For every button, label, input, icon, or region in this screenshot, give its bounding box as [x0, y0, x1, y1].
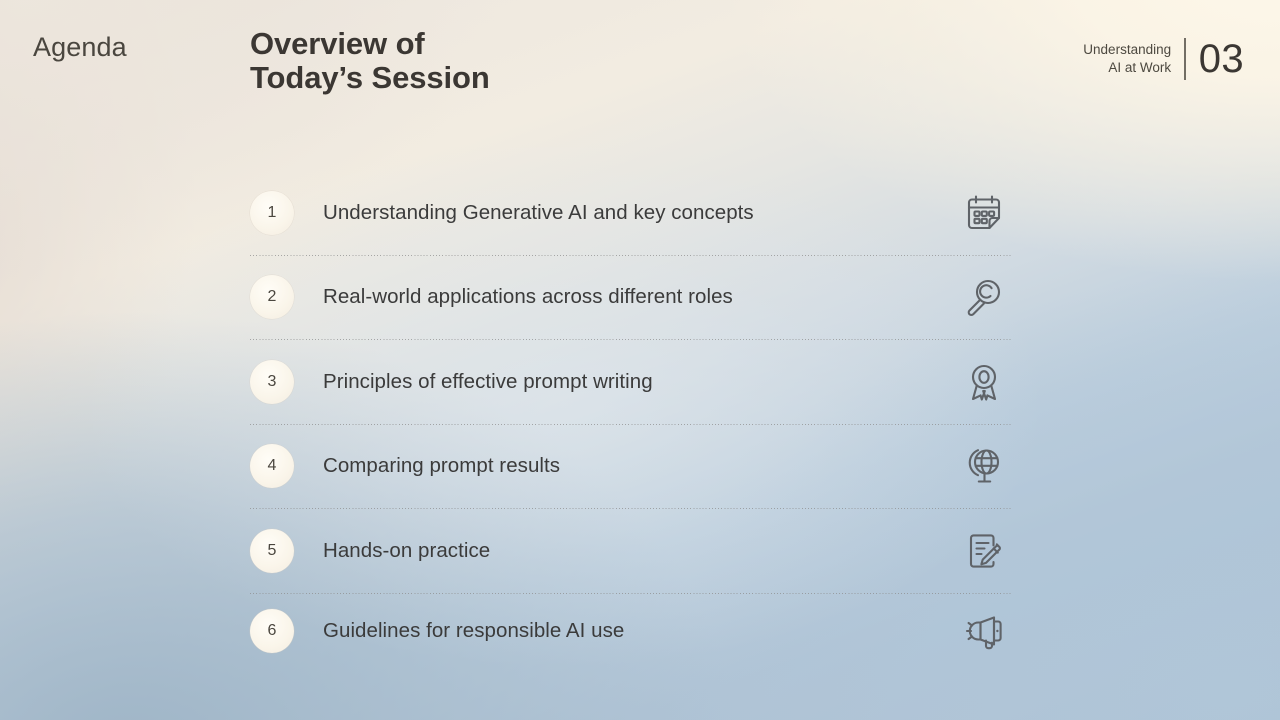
- agenda-item-label: Comparing prompt results: [323, 454, 560, 478]
- slide-number: 03: [1199, 39, 1244, 79]
- agenda-item-label: Real-world applications across different…: [323, 285, 733, 309]
- agenda-item-number: 4: [250, 444, 294, 488]
- brand-name: Understanding AI at Work: [1083, 41, 1171, 77]
- brand-name-line-2: AI at Work: [1083, 59, 1171, 77]
- agenda-item[interactable]: 4 Comparing prompt results: [250, 425, 1012, 509]
- page-title-line-2: Today’s Session: [250, 61, 490, 95]
- slide-kicker: Agenda: [33, 32, 127, 63]
- document-pencil-icon: [957, 524, 1011, 578]
- calendar-icon: [957, 186, 1011, 240]
- megaphone-icon: [957, 604, 1011, 658]
- magnifier-icon: [957, 270, 1011, 324]
- agenda-item[interactable]: 1 Understanding Generative AI and key co…: [250, 171, 1012, 255]
- agenda-item-label: Principles of effective prompt writing: [323, 370, 653, 394]
- agenda-item[interactable]: 5 Hands-on practice: [250, 509, 1012, 593]
- brand-name-line-1: Understanding: [1083, 41, 1171, 59]
- agenda-item[interactable]: 6 Guidelines for responsible AI use: [250, 594, 1012, 668]
- agenda-list: 1 Understanding Generative AI and key co…: [250, 171, 1012, 668]
- agenda-item-number: 2: [250, 275, 294, 319]
- agenda-item[interactable]: 2 Real-world applications across differe…: [250, 256, 1012, 340]
- slide-canvas: Agenda Overview of Today’s Session Under…: [0, 0, 1280, 720]
- agenda-item-label: Guidelines for responsible AI use: [323, 619, 624, 643]
- agenda-item-number: 3: [250, 360, 294, 404]
- globe-icon: [957, 439, 1011, 493]
- agenda-item-number: 5: [250, 529, 294, 573]
- agenda-item-label: Understanding Generative AI and key conc…: [323, 201, 754, 225]
- agenda-item-number: 6: [250, 609, 294, 653]
- agenda-item[interactable]: 3 Principles of effective prompt writing: [250, 340, 1012, 424]
- agenda-item-label: Hands-on practice: [323, 539, 490, 563]
- brand-block: Understanding AI at Work 03: [1083, 38, 1244, 80]
- agenda-item-number: 1: [250, 191, 294, 235]
- brand-divider: [1184, 38, 1186, 80]
- page-title: Overview of Today’s Session: [250, 27, 490, 96]
- page-title-line-1: Overview of: [250, 27, 490, 61]
- award-ribbon-icon: [957, 355, 1011, 409]
